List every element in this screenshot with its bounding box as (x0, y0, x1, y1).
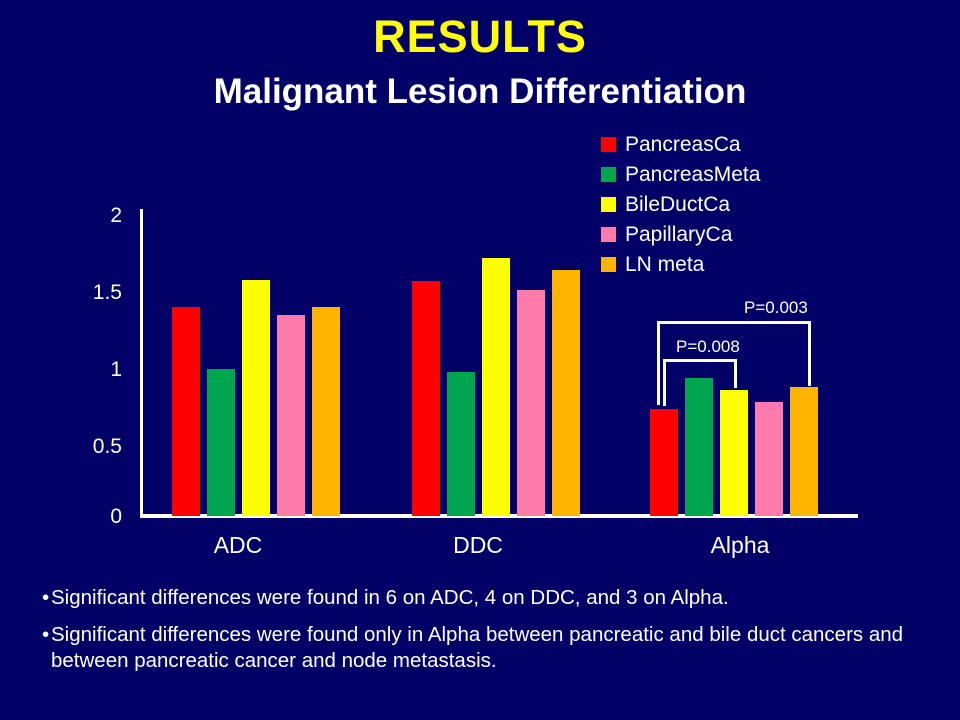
list-item: • Significant differences were found in … (42, 585, 942, 611)
bullet-list: • Significant differences were found in … (42, 585, 942, 685)
pvalue-bracket-inner-right (734, 359, 737, 388)
legend-swatch-pancreasca (601, 137, 616, 152)
legend-swatch-lnmeta (601, 257, 616, 272)
list-item: • Significant differences were found onl… (42, 622, 942, 674)
page-title: RESULTS (0, 14, 960, 59)
legend-item[interactable]: BileDuctCa (601, 189, 760, 219)
legend-label: LN meta (625, 254, 704, 275)
x-axis-label-alpha: Alpha (680, 534, 800, 557)
legend-label: PapillaryCa (625, 224, 732, 245)
pvalue-bracket-outer-left (657, 321, 660, 405)
x-axis-label-adc: ADC (178, 534, 298, 557)
legend-label: PancreasMeta (625, 164, 760, 185)
chart-legend: PancreasCa PancreasMeta BileDuctCa Papil… (601, 129, 760, 279)
legend-item[interactable]: PapillaryCa (601, 219, 760, 249)
bar-ddc-ln meta[interactable] (552, 270, 580, 516)
bar-alpha-papillaryca[interactable] (755, 402, 783, 516)
legend-swatch-papillaryca (601, 227, 616, 242)
legend-item[interactable]: LN meta (601, 249, 760, 279)
pvalue-bracket-inner-left (663, 359, 666, 406)
bar-alpha-pancreasca[interactable] (650, 409, 678, 516)
legend-swatch-pancreasmeta (601, 167, 616, 182)
x-axis-label-ddc: DDC (418, 534, 538, 557)
legend-label: BileDuctCa (625, 194, 730, 215)
bar-adc-ln meta[interactable] (312, 307, 340, 516)
bullet-text: Significant differences were found only … (51, 622, 942, 674)
y-axis-line (140, 209, 143, 517)
legend-swatch-bileductca (601, 197, 616, 212)
bar-ddc-papillaryca[interactable] (517, 290, 545, 516)
bar-adc-pancreasmeta[interactable] (207, 369, 235, 516)
bar-ddc-bileductca[interactable] (482, 258, 510, 516)
pvalue-label-outer: P=0.003 (744, 299, 808, 316)
pvalue-bracket-outer-right (808, 321, 811, 386)
bullet-marker-icon: • (42, 622, 51, 674)
bullet-marker-icon: • (42, 585, 51, 611)
bar-alpha-pancreasmeta[interactable] (685, 378, 713, 516)
page-subtitle: Malignant Lesion Differentiation (0, 74, 960, 109)
pvalue-bracket-outer-top (657, 321, 811, 324)
bar-alpha-ln meta[interactable] (790, 387, 818, 516)
bar-alpha-bileductca[interactable] (720, 390, 748, 516)
legend-item[interactable]: PancreasMeta (601, 159, 760, 189)
pvalue-bracket-inner-top (663, 359, 737, 362)
bar-adc-papillaryca[interactable] (277, 315, 305, 516)
y-tick-label: 1.5 (62, 282, 122, 303)
y-tick-label: 1 (62, 359, 122, 380)
bullet-text: Significant differences were found in 6 … (51, 585, 942, 611)
legend-label: PancreasCa (625, 134, 741, 155)
bar-adc-pancreasca[interactable] (172, 307, 200, 516)
bar-ddc-pancreasmeta[interactable] (447, 372, 475, 516)
bar-adc-bileductca[interactable] (242, 280, 270, 516)
x-axis-line (140, 514, 858, 518)
y-tick-label: 0 (62, 506, 122, 527)
y-tick-label: 0.5 (62, 436, 122, 457)
legend-item[interactable]: PancreasCa (601, 129, 760, 159)
bar-ddc-pancreasca[interactable] (412, 281, 440, 516)
slide-root: RESULTS Malignant Lesion Differentiation… (0, 0, 960, 720)
y-tick-label: 2 (62, 205, 122, 226)
pvalue-label-inner: P=0.008 (676, 338, 740, 355)
